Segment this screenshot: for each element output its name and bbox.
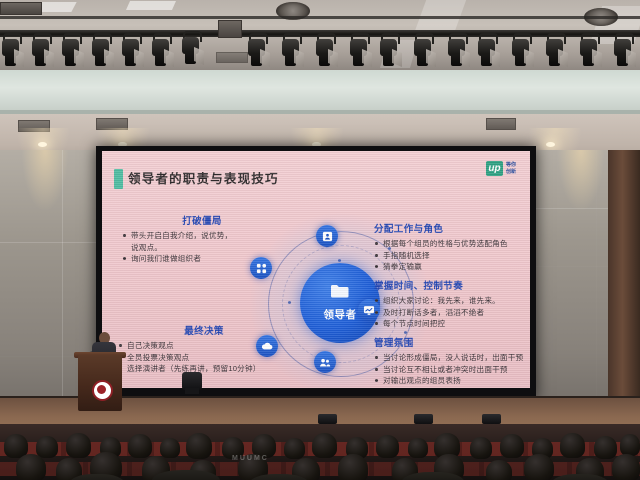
section-heading: 最终决策: [118, 323, 290, 337]
section-heading: 分配工作与角色: [374, 221, 530, 235]
list-item: 自己决策观点: [118, 340, 290, 352]
logo-line-1: 等你: [506, 162, 516, 169]
logo-mark: up: [486, 161, 503, 176]
list-item: 选择演讲者（先练再讲，预留10分钟）: [118, 363, 290, 375]
list-item: 组织大家讨论：我先来，谁先来。: [374, 295, 530, 307]
list-item: 每个节点时间把控: [374, 318, 530, 330]
presentation-slide: 领导者的职责与表现技巧 up 等你 创新 领导者: [102, 151, 530, 388]
list-item: 及时打断话多者，滔滔不绝者: [374, 307, 530, 319]
stage-spotlight: [580, 33, 597, 67]
list-item: 询问我们谁做组织者: [122, 253, 282, 265]
section-assign-roles: 分配工作与角色 根据每个组员的性格与优势选配角色 手指随机选择 猜拳定输赢: [374, 221, 530, 273]
stage-spotlight: [32, 33, 49, 67]
stage-spotlight: [248, 33, 265, 67]
slide-title: 领导者的职责与表现技巧: [128, 168, 279, 187]
stage-spotlight: [62, 33, 79, 67]
title-accent-bar: [114, 169, 123, 189]
stage-spotlight: [316, 33, 333, 67]
stage-spotlight: [448, 33, 465, 67]
section-bullets: 带头开启自我介绍，说优势， 说观点。 询问我们谁做组织者: [122, 230, 282, 265]
section-bullets: 组织大家讨论：我先来，谁先来。 及时打断话多者，滔滔不绝者 每个节点时间把控: [374, 295, 530, 330]
folder-icon: [330, 283, 350, 304]
section-heading: 管理氛围: [374, 335, 530, 349]
stage-spotlight: [122, 33, 139, 67]
stage-spotlight: [2, 33, 19, 67]
stage-spotlight: [282, 33, 299, 67]
section-bullets: 根据每个组员的性格与优势选配角色 手指随机选择 猜拳定输赢: [374, 238, 530, 273]
list-item: 全员投票决策观点: [118, 352, 290, 364]
section-bullets: 当讨论形成僵局，没人说话时，出面干预 当讨论互不相让或者冲突时出面干预 对输出观…: [374, 352, 530, 387]
list-item: 猜拳定输赢: [374, 261, 530, 273]
section-final-decision: 最终决策 自己决策观点 全员投票决策观点 选择演讲者（先练再讲，预留10分钟）: [118, 323, 290, 375]
auditorium-photo: 领导者的职责与表现技巧 up 等你 创新 领导者: [0, 0, 640, 480]
section-heading: 打破僵局: [122, 213, 282, 227]
list-item: 当讨论形成僵局，没人说话时，出面干预: [374, 352, 530, 364]
stage-spotlight: [380, 33, 397, 67]
recessed-downlight: [38, 142, 47, 147]
stage-spotlight: [350, 33, 367, 67]
stage-spotlight: [152, 33, 169, 67]
stage-spotlight: [478, 33, 495, 67]
brand-logo: up 等你 创新: [486, 161, 516, 176]
stage-monitor-base: [185, 388, 199, 394]
section-bullets: 自己决策观点 全员投票决策观点 选择演讲者（先练再讲，预留10分钟）: [118, 340, 290, 375]
section-manage-atmosphere: 管理氛围 当讨论形成僵局，没人说话时，出面干预 当讨论互不相让或者冲突时出面干预…: [374, 335, 530, 387]
ceiling-soffit: [0, 70, 640, 114]
list-item: 手指随机选择: [374, 250, 530, 262]
stage-spotlight: [92, 33, 109, 67]
stage-spotlight: [614, 33, 631, 67]
stage-spotlight: [414, 33, 431, 67]
section-control-time: 掌握时间、控制节奏 组织大家讨论：我先来，谁先来。 及时打断话多者，滔滔不绝者 …: [374, 278, 530, 330]
users-group-icon: [314, 351, 336, 373]
section-break-deadlock: 打破僵局 带头开启自我介绍，说优势， 说观点。 询问我们谁做组织者: [122, 213, 282, 265]
section-heading: 掌握时间、控制节奏: [374, 278, 530, 292]
list-item: 带头开启自我介绍，说优势，: [122, 230, 282, 242]
list-item: 根据每个组员的性格与优势选配角色: [374, 238, 530, 250]
ceiling: [0, 0, 640, 72]
stage-spotlight: [182, 31, 199, 69]
list-item: 当讨论互不相让或者冲突时出面干预: [374, 364, 530, 376]
logo-line-2: 创新: [506, 169, 516, 176]
floor-speaker: [414, 414, 433, 424]
watermark: MUUMC: [232, 455, 269, 462]
audience-area: [0, 424, 640, 480]
list-item: 对输出观点的组员表扬: [374, 375, 530, 387]
stage-spotlight: [546, 33, 563, 67]
floor-speaker: [318, 414, 337, 424]
university-emblem: [92, 380, 113, 401]
floor-speaker: [482, 414, 501, 424]
stage-spotlight: [512, 33, 529, 67]
logo-wordmark: 等你 创新: [506, 162, 516, 175]
id-badge-icon: [316, 225, 338, 247]
recessed-downlight: [546, 142, 555, 147]
list-item: 说观点。: [122, 242, 282, 254]
